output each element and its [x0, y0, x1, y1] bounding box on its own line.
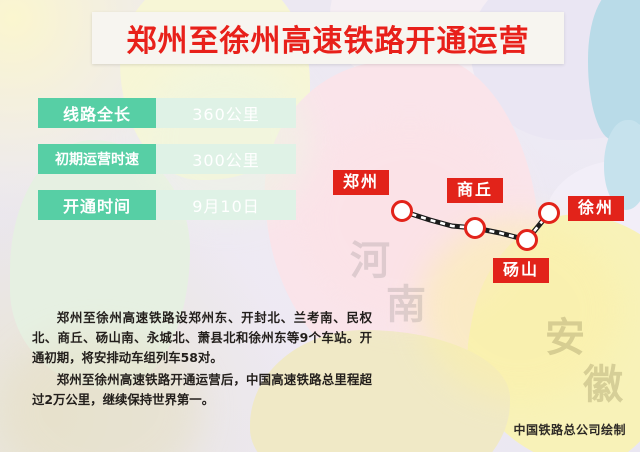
stat-value-initial-speed: 300公里	[156, 144, 296, 174]
watermark-anhui-char2: 徽	[583, 352, 623, 410]
watermark-henan-char2: 南	[386, 272, 426, 330]
stat-row: 初期运营时速 300公里	[38, 144, 296, 174]
sea-shape	[588, 0, 640, 140]
stat-value-line-length: 360公里	[156, 98, 296, 128]
city-label-shangqiu: 商丘	[447, 178, 503, 203]
body-text: 郑州至徐州高速铁路设郑州东、开封北、兰考南、民权北、商丘、砀山南、永城北、萧县北…	[32, 308, 372, 412]
body-paragraph-2: 郑州至徐州高速铁路开通运营后，中国高速铁路总里程超过2万公里，继续保持世界第一。	[32, 370, 372, 410]
stat-label-line-length: 线路全长	[38, 98, 156, 128]
city-label-dangshan: 砀山	[493, 258, 549, 283]
stat-label-initial-speed: 初期运营时速	[38, 144, 156, 174]
watermark-anhui-char1: 安	[545, 305, 585, 363]
title-banner: 郑州至徐州高速铁路开通运营	[92, 12, 564, 64]
stat-value-opening-date: 9月10日	[156, 190, 296, 220]
stat-row: 开通时间 9月10日	[38, 190, 296, 220]
credit-line: 中国铁路总公司绘制	[513, 421, 626, 438]
body-paragraph-1: 郑州至徐州高速铁路设郑州东、开封北、兰考南、民权北、商丘、砀山南、永城北、萧县北…	[32, 308, 372, 368]
city-label-zhengzhou: 郑州	[333, 170, 389, 195]
stat-label-opening-date: 开通时间	[38, 190, 156, 220]
watermark-henan-char1: 河	[350, 228, 390, 286]
stat-row: 线路全长 360公里	[38, 98, 296, 128]
infographic-poster: 河 南 安 徽 郑州 商丘 徐州 砀山 郑州至徐州高速铁路开通运营 线路全长 3…	[0, 0, 640, 452]
city-label-xuzhou: 徐州	[568, 196, 624, 221]
stats-panel: 线路全长 360公里 初期运营时速 300公里 开通时间 9月10日	[38, 98, 296, 236]
page-title: 郑州至徐州高速铁路开通运营	[127, 16, 530, 60]
